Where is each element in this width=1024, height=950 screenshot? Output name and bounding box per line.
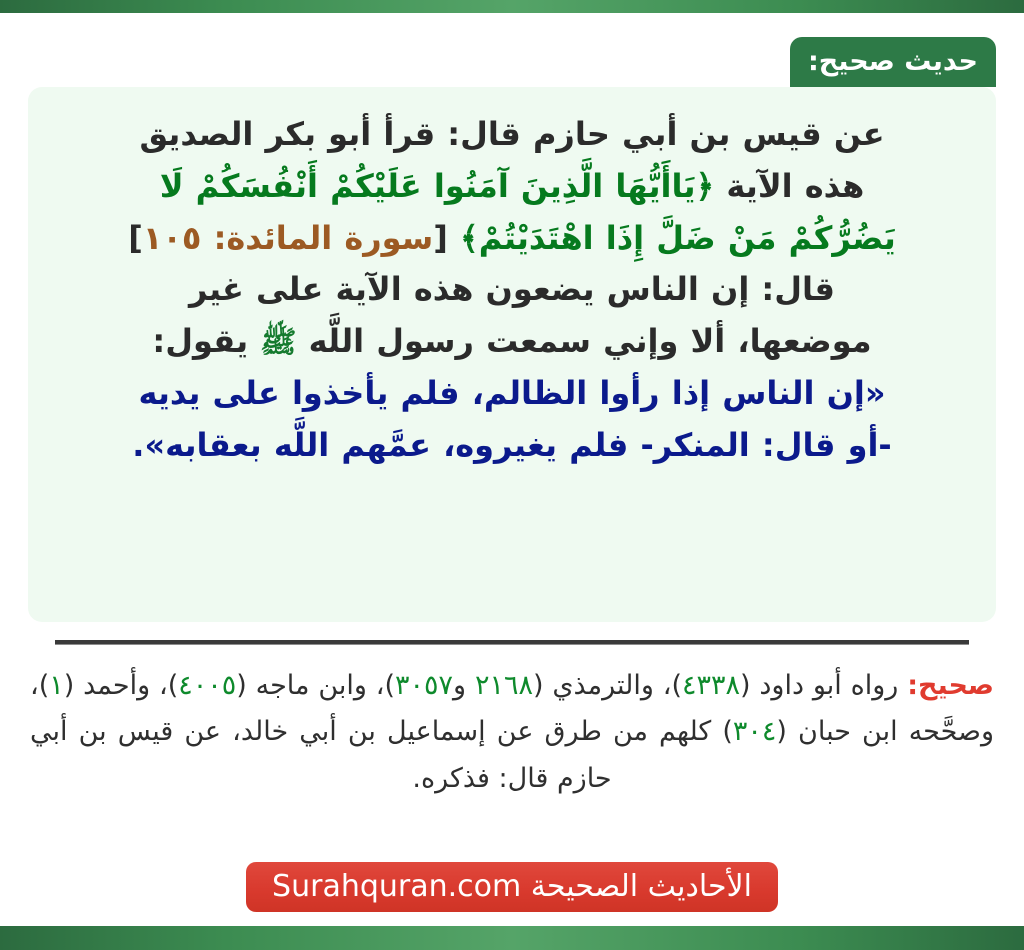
- text-segment: )، وأحمد (: [64, 670, 178, 701]
- text-segment: هذه الآية: [714, 167, 864, 205]
- text-segment: ﷺ: [260, 325, 296, 360]
- hadith-page: حديث صحيح: عن قيس بن أبي حازم قال: قرأ أ…: [0, 13, 1024, 926]
- text-segment: [448, 219, 460, 257]
- top-decorative-bar: [0, 0, 1024, 13]
- text-segment: ٤٣٣٨: [682, 670, 740, 701]
- text-segment: صحيح:: [907, 670, 994, 701]
- text-segment: )، والترمذي (: [533, 670, 682, 701]
- text-segment: ١: [49, 670, 64, 701]
- hadith-line: عن قيس بن أبي حازم قال: قرأ أبو بكر الصد…: [54, 109, 970, 161]
- text-segment: ٣٠٥٧: [395, 670, 453, 701]
- text-segment: قال: إن الناس يضعون هذه الآية على غير: [189, 270, 835, 308]
- hadith-text: عن قيس بن أبي حازم قال: قرأ أبو بكر الصد…: [54, 109, 970, 472]
- hadith-line: موضعها، ألا وإني سمعت رسول اللَّه ﷺ يقول…: [54, 316, 970, 368]
- text-segment: [: [433, 219, 448, 257]
- hadith-line: -أو قال: المنكر- فلم يغيروه، عمَّهم اللَ…: [54, 420, 970, 472]
- hadith-line: يَضُرُّكُمْ مَنْ ضَلَّ إِذَا اهْتَدَيْتُ…: [54, 213, 970, 265]
- text-segment: )، وابن ماجه (: [236, 670, 395, 701]
- hadith-card: عن قيس بن أبي حازم قال: قرأ أبو بكر الصد…: [28, 87, 996, 622]
- text-segment: ٣٠٤: [733, 716, 777, 747]
- text-segment: يَضُرُّكُمْ مَنْ ضَلَّ إِذَا اهْتَدَيْتُ…: [460, 219, 896, 257]
- text-segment: رواه أبو داود (: [740, 670, 907, 701]
- bottom-decorative-bar: [0, 926, 1024, 950]
- text-segment: موضعها، ألا وإني سمعت رسول اللَّه: [296, 322, 871, 360]
- text-segment: ﴿يَاأَيُّهَا الَّذِينَ آمَنُوا عَلَيْكُم…: [160, 167, 715, 205]
- site-footer-banner[interactable]: الأحاديث الصحيحة Surahquran.com: [246, 862, 778, 912]
- hadith-attribution-text: صحيح: رواه أبو داود (٤٣٣٨)، والترمذي (٢١…: [30, 663, 994, 802]
- text-segment: يقول:: [152, 322, 260, 360]
- hadith-line: هذه الآية ﴿يَاأَيُّهَا الَّذِينَ آمَنُوا…: [54, 161, 970, 213]
- hadith-line: «إن الناس إذا رأوا الظالم، فلم يأخذوا عل…: [54, 368, 970, 420]
- text-segment: -أو قال: المنكر- فلم يغيروه، عمَّهم اللَ…: [132, 426, 891, 464]
- text-segment: ٢١٦٨: [475, 670, 533, 701]
- text-segment: و: [453, 670, 475, 701]
- text-segment: ]: [128, 219, 143, 257]
- hadith-grade-badge: حديث صحيح:: [790, 37, 996, 87]
- text-segment: عن قيس بن أبي حازم قال: قرأ أبو بكر الصد…: [139, 115, 884, 153]
- hadith-line: قال: إن الناس يضعون هذه الآية على غير: [54, 264, 970, 316]
- badge-row: حديث صحيح:: [28, 37, 996, 87]
- text-segment: سورة المائدة: ١٠٥: [143, 219, 433, 257]
- text-segment: ) كلهم من طرق عن إسماعيل بن أبي خالد، عن…: [30, 716, 733, 793]
- section-divider: [55, 640, 969, 645]
- footer-banner-row: الأحاديث الصحيحة Surahquran.com: [0, 862, 1024, 912]
- text-segment: ٤٠٠٥: [178, 670, 236, 701]
- text-segment: «إن الناس إذا رأوا الظالم، فلم يأخذوا عل…: [138, 374, 885, 412]
